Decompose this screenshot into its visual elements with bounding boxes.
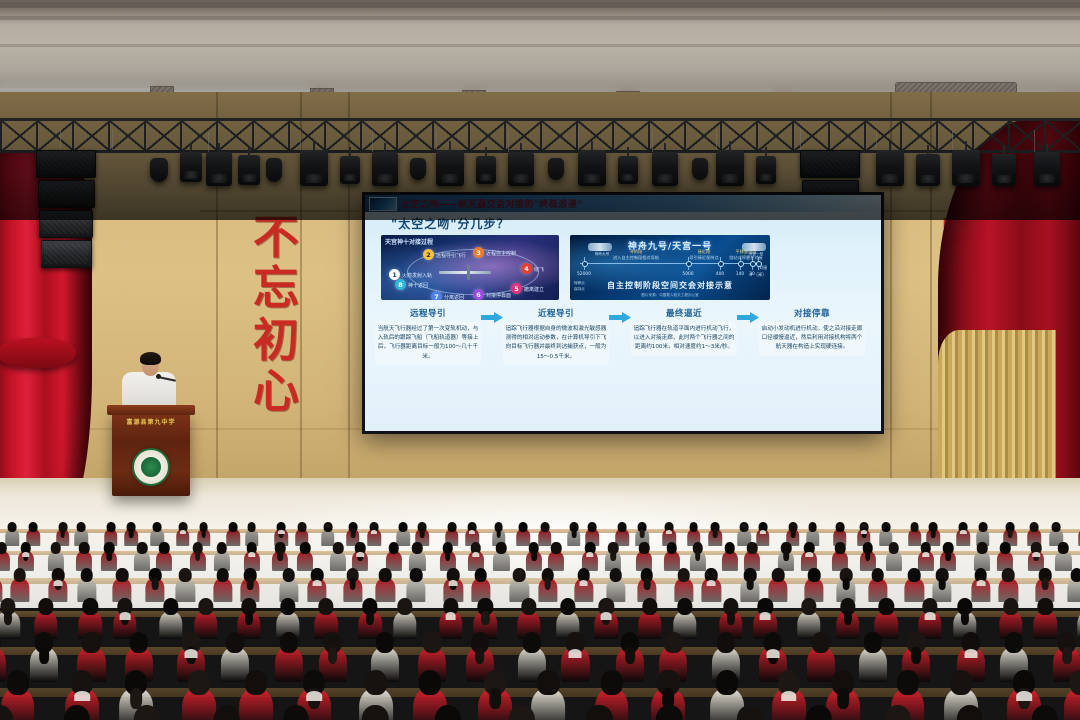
docking-phase-flow: 远程导引当航天飞行器经过了第一次变轨机动，与入轨后的跟踪飞船（飞船轨道器）等接上…	[375, 307, 871, 415]
par-can-light	[150, 158, 168, 182]
phase-heading: 对接停靠	[759, 307, 865, 319]
light-lens	[211, 174, 227, 183]
rigging-wire	[372, 130, 373, 152]
truss-segment	[1008, 121, 1046, 151]
audience-member	[1055, 542, 1071, 569]
audience-head	[560, 598, 575, 615]
audience-member	[1028, 542, 1044, 569]
audience-collar	[248, 552, 255, 557]
audience-member	[744, 542, 760, 569]
docking-step-number: 6	[473, 289, 484, 300]
slide-title-bar: 太空之吻——航天器交会对接的"终极浪漫"	[365, 195, 881, 212]
audience-ponytail	[60, 529, 65, 537]
moving-head-light	[916, 154, 940, 186]
microphone-head	[156, 374, 161, 379]
speaker-cabinet	[36, 150, 96, 178]
audience-member	[664, 542, 680, 569]
audience-head	[297, 522, 306, 532]
line-array-speaker-left	[36, 150, 96, 268]
timeline-phase-note: 导引接近保持点	[689, 255, 718, 261]
audience-member	[548, 542, 564, 569]
audience-ponytail	[445, 551, 451, 561]
audience-member	[689, 542, 705, 569]
audience-member	[502, 705, 542, 720]
rendezvous-footnote: 图片来源：中国载人航天工程办公室	[641, 293, 699, 298]
truss-segment	[252, 121, 290, 151]
audience-ponytail	[366, 611, 374, 625]
audience-ponytail	[496, 529, 501, 537]
timeline-node	[738, 261, 744, 267]
audience-head	[247, 522, 256, 532]
rigging-wire	[800, 128, 801, 150]
audience-member	[722, 542, 738, 569]
audience-collar	[306, 691, 322, 701]
audience-member	[49, 568, 68, 601]
audience-head	[806, 705, 832, 720]
audience-member	[971, 568, 990, 601]
audience-head	[198, 598, 213, 615]
truss-segment	[612, 121, 650, 151]
audience-member	[997, 542, 1013, 569]
audience-collar	[601, 612, 612, 619]
audience-member	[574, 568, 593, 601]
truss-segment	[936, 121, 974, 151]
audience-head	[64, 705, 90, 720]
podium: 富源县第九中学	[112, 412, 190, 496]
audience-head	[1000, 542, 1011, 554]
audience-ponytail	[277, 551, 283, 561]
moving-head-light	[756, 156, 776, 184]
audience-member	[272, 542, 288, 569]
audience-member	[730, 705, 770, 720]
audience-head	[163, 598, 178, 615]
audience-head	[618, 522, 627, 532]
moving-head-light	[436, 150, 464, 186]
audience-head	[664, 632, 682, 653]
timeline-phase-note: 进入自主控制段相对导航	[613, 255, 659, 261]
audience-collar	[449, 580, 458, 586]
audience-member	[538, 568, 557, 601]
slogan-char: 初	[253, 317, 299, 363]
audience-ponytail	[695, 551, 701, 561]
audience-member	[409, 542, 425, 569]
truss-segment	[576, 121, 614, 151]
audience-head	[864, 632, 882, 653]
audience-head	[153, 522, 162, 532]
audience-head	[130, 632, 148, 653]
audience-head	[13, 568, 26, 582]
audience-head	[50, 542, 61, 554]
moving-head-light	[652, 152, 678, 186]
moving-head-light	[180, 152, 202, 182]
slide-topbar-title: 太空之吻——航天器交会对接的"终极浪漫"	[401, 197, 582, 210]
audience-head	[808, 568, 821, 582]
audience-head	[225, 632, 243, 653]
audience-member	[77, 568, 96, 601]
audience-member	[440, 542, 456, 569]
audience-member	[932, 568, 951, 601]
craft-icon-tiangong	[742, 243, 766, 251]
audience-head	[82, 632, 100, 653]
audience-head	[137, 542, 148, 554]
timeline-legend: 转移点 保持点	[574, 281, 585, 292]
audience-head	[1052, 522, 1061, 532]
docking-step-label: 对接停靠面	[486, 292, 511, 299]
audience-head	[588, 522, 597, 532]
audience-ponytail	[727, 611, 735, 625]
audience-head	[666, 542, 677, 554]
audience-collar	[1017, 691, 1033, 701]
audience-head	[419, 670, 441, 695]
audience-head	[397, 598, 412, 615]
audience-member	[636, 542, 652, 569]
audience-member	[241, 568, 260, 601]
audience-member	[868, 568, 887, 601]
rigging-wire	[60, 130, 61, 152]
timeline-distance-label: 0 （米）	[749, 272, 766, 278]
timeline-right-label: 对接	[759, 265, 767, 271]
light-lens	[513, 174, 529, 183]
audience-head	[1030, 522, 1039, 532]
audience-ponytail	[1008, 529, 1013, 537]
audience-member	[376, 568, 395, 601]
timeline-distance-label: 400	[716, 272, 724, 277]
audience-ponytail	[1062, 647, 1072, 664]
light-lens	[760, 174, 772, 181]
audience-head	[83, 598, 98, 615]
docking-step-number: 7	[431, 291, 442, 300]
audience-head	[656, 705, 682, 720]
rigging-wire	[876, 130, 877, 150]
truss-segment	[324, 121, 362, 151]
phase-arrow-icon	[737, 308, 759, 319]
audience-ponytail	[201, 529, 206, 537]
audience-head	[885, 705, 911, 720]
audience-member	[134, 542, 150, 569]
audience-member	[674, 568, 693, 601]
audience-collar	[1033, 552, 1040, 557]
docking-step-label: 神十返回	[408, 282, 428, 289]
audience-head	[601, 670, 623, 695]
truss-segment	[144, 121, 182, 151]
audience-member	[0, 705, 19, 720]
speaker-cabinet	[38, 180, 95, 208]
truss-segment	[756, 121, 794, 151]
audience-head	[496, 542, 507, 554]
rigging-wire	[208, 132, 209, 152]
audience-member	[768, 568, 787, 601]
audience-collar	[119, 612, 130, 619]
audience-ponytail	[245, 611, 253, 625]
audience-ponytail	[544, 578, 551, 590]
audience-member	[213, 568, 232, 601]
audience-ponytail	[912, 647, 922, 664]
phase-heading: 最终逼近	[631, 307, 737, 319]
audience-member	[0, 568, 2, 601]
audience-head	[283, 705, 309, 720]
audience-head	[1038, 598, 1053, 615]
audience-collar	[54, 580, 63, 586]
audience-member	[709, 522, 723, 545]
slide-thumbnail-icon	[369, 197, 397, 211]
moving-head-light	[952, 150, 980, 186]
truss-segment	[432, 121, 470, 151]
audience-head	[523, 632, 541, 653]
audience-ponytail	[791, 529, 796, 537]
audience-head	[280, 632, 298, 653]
audience-head	[319, 598, 334, 615]
audience-member	[213, 542, 229, 569]
audience-collar	[469, 530, 475, 534]
phase-arrow-icon	[609, 308, 631, 319]
moving-head-light	[206, 152, 232, 186]
audience-ponytail	[610, 551, 616, 561]
audience-ponytail	[713, 529, 718, 537]
audience-member	[307, 568, 326, 601]
phase-description: 追踪飞行器在轨道平面内进行机动飞行，以进入对接走廊，此时两个飞行器之间的距离约1…	[631, 322, 737, 356]
audience-ponytail	[865, 551, 871, 561]
rigging-wire	[652, 130, 653, 152]
audience-collar	[781, 691, 797, 701]
audience-collar	[313, 580, 322, 586]
audience-head	[280, 598, 295, 615]
truss-segment	[108, 121, 146, 151]
moving-head-light	[876, 150, 904, 186]
audience-member	[493, 542, 509, 569]
audience-collar	[922, 552, 929, 557]
audience-member	[101, 542, 117, 569]
audience-member	[1025, 705, 1065, 720]
audience-head	[639, 542, 650, 554]
led-presentation-screen[interactable]: 太空之吻——航天器交会对接的"终极浪漫" "太空之吻"分几步？ 天宫神十对接过程…	[362, 192, 884, 434]
audience-member	[836, 598, 859, 638]
audience-head	[134, 705, 160, 720]
par-can-light	[410, 158, 426, 180]
audience-head	[80, 568, 93, 582]
rigging-wire	[300, 130, 301, 150]
phase-description: 追踪飞行器根据自身的微波和激光敏感器测得的相对运动参数，在计算机导引下飞向目标飞…	[503, 322, 609, 365]
timeline-axis	[580, 263, 758, 264]
presenter-hair	[140, 352, 161, 365]
audience-member	[176, 568, 195, 601]
audience-member	[859, 632, 887, 680]
audience-ponytail	[106, 551, 112, 561]
moving-head-light	[340, 156, 360, 184]
truss-segment	[828, 121, 866, 151]
craft-icon-shenzhou	[588, 243, 612, 251]
docking-step-label: 撤离建立	[524, 286, 544, 293]
audience-head	[677, 598, 692, 615]
light-lens	[184, 171, 198, 179]
docking-step-number: 2	[423, 249, 434, 260]
truss-segment	[792, 121, 830, 151]
timeline-distance-label: 52000	[577, 272, 591, 277]
audience-ponytail	[152, 578, 159, 590]
moving-head-light	[238, 155, 260, 185]
audience-head	[362, 705, 388, 720]
docking-step-number: 3	[473, 247, 484, 258]
rigging-wire	[112, 130, 113, 150]
audience-member	[799, 705, 839, 720]
audience-member	[343, 568, 362, 601]
slogan-char: 心	[253, 368, 299, 414]
audience-head	[725, 542, 736, 554]
audience-head	[7, 670, 29, 695]
audience-head	[1002, 568, 1015, 582]
audience-head	[509, 705, 535, 720]
docking-steps-title: 天宫神十对接过程	[385, 237, 433, 246]
phase-heading: 近程导引	[503, 307, 609, 319]
audience-ponytail	[195, 551, 201, 561]
audience-collar	[278, 530, 284, 534]
audience-ponytail	[945, 551, 951, 561]
speaker-cabinet	[41, 240, 92, 268]
truss-segment	[900, 121, 938, 151]
audience-collar	[707, 580, 716, 586]
moving-head-light	[476, 156, 496, 184]
phase-column: 近程导引追踪飞行器根据自身的微波和激光敏感器测得的相对运动参数，在计算机导引下飞…	[503, 307, 609, 365]
audience-head	[216, 542, 227, 554]
slogan-char: 忘	[253, 265, 299, 311]
light-lens	[480, 174, 492, 181]
truss-segment	[468, 121, 506, 151]
audience-member	[832, 542, 848, 569]
audience-head	[389, 542, 400, 554]
audience-collar	[760, 530, 766, 534]
par-can-light	[266, 158, 282, 182]
audience-ponytail	[843, 578, 850, 590]
moving-head-light	[578, 150, 606, 186]
speaker-cabinet	[800, 150, 860, 178]
audience-collar	[185, 649, 198, 658]
audience-head	[642, 598, 657, 615]
audience-member	[778, 542, 794, 569]
rendezvous-timeline-panel: 神舟九号/天宫一号 520005000400140300 （米）寻的段进入自主控…	[570, 235, 770, 300]
speaker-cabinet	[39, 210, 93, 238]
audience-head	[245, 670, 267, 695]
audience-ponytail	[1042, 578, 1049, 590]
audience-collar	[586, 552, 593, 557]
audience-head	[540, 522, 549, 532]
rigging-wire	[578, 130, 579, 150]
slide-heading: "太空之吻"分几步？	[391, 215, 510, 232]
moving-head-light	[300, 150, 328, 186]
audience-member	[940, 542, 956, 569]
audience-ponytail	[572, 529, 577, 537]
audience-member	[1035, 568, 1054, 601]
timeline-node	[686, 261, 692, 267]
school-crest-icon	[132, 448, 170, 486]
audience-member	[637, 568, 656, 601]
audience-head	[323, 522, 332, 532]
audience-collar	[976, 580, 985, 586]
timeline-distance-label: 5000	[682, 272, 693, 277]
audience-member	[0, 542, 10, 569]
light-lens	[344, 174, 356, 181]
truss-segment	[504, 121, 542, 151]
audience-member	[48, 542, 64, 569]
truss-segment	[0, 121, 38, 151]
audience-ponytail	[844, 611, 852, 625]
audience-collar	[964, 649, 977, 658]
audience-collar	[861, 530, 867, 534]
audience-member	[386, 542, 402, 569]
audience-member	[10, 568, 29, 601]
audience-head	[106, 522, 115, 532]
audience-member	[702, 568, 721, 601]
audience-member	[57, 705, 97, 720]
light-lens	[242, 174, 256, 182]
audience-ponytail	[489, 688, 501, 709]
audience-collar	[766, 649, 779, 658]
audience-collar	[760, 612, 771, 619]
audience-ponytail	[644, 578, 651, 590]
moving-head-light	[992, 154, 1016, 186]
audience-head	[79, 542, 90, 554]
audience-head	[871, 568, 884, 582]
audience-member	[145, 568, 164, 601]
light-lens	[921, 175, 936, 183]
timeline-distance-label: 140	[736, 272, 744, 277]
light-lens	[583, 174, 600, 183]
rigging-wire	[436, 130, 437, 150]
audience-head	[159, 542, 170, 554]
audience-ponytail	[328, 647, 338, 664]
truss-segment	[72, 121, 110, 151]
audience-head	[519, 522, 528, 532]
audience-member	[595, 598, 618, 638]
audience-member	[468, 542, 484, 569]
audience	[0, 500, 1080, 720]
audience-ponytail	[640, 529, 645, 537]
audience-collar	[22, 552, 29, 557]
audience-head	[179, 568, 192, 582]
audience-head	[772, 568, 785, 582]
moving-head-light	[508, 152, 534, 186]
audience-head	[333, 542, 344, 554]
rigging-wire	[508, 130, 509, 152]
audience-ponytail	[531, 551, 537, 561]
docking-step-label: 火箭发射入轨	[402, 272, 432, 279]
audience-collar	[960, 530, 966, 534]
audience-ponytail	[420, 529, 425, 537]
audience-head	[897, 670, 919, 695]
audience-head	[835, 522, 844, 532]
audience-head	[0, 542, 7, 554]
truss-segment	[648, 121, 686, 151]
audience-member	[276, 705, 316, 720]
audience-member	[649, 705, 689, 720]
audience-ponytail	[247, 578, 254, 590]
audience-member	[76, 542, 92, 569]
audience-head	[801, 598, 816, 615]
audience-member	[352, 542, 368, 569]
audience-head	[537, 670, 559, 695]
audience-collar	[472, 552, 479, 557]
audience-head	[812, 632, 830, 653]
audience-member	[444, 568, 463, 601]
audience-head	[808, 522, 817, 532]
audience-ponytail	[351, 529, 356, 537]
audience-head	[365, 670, 387, 695]
lighting-truss	[0, 118, 1080, 154]
audience-member	[18, 542, 34, 569]
light-lens	[957, 174, 974, 183]
audience-member	[801, 542, 817, 569]
light-lens	[1039, 174, 1055, 183]
audience-head	[283, 568, 296, 582]
phase-column: 对接停靠启动小发动机进行机动，使之沿对接走廊口径缓慢逼近，然后利用对接机构将两个…	[759, 307, 865, 356]
